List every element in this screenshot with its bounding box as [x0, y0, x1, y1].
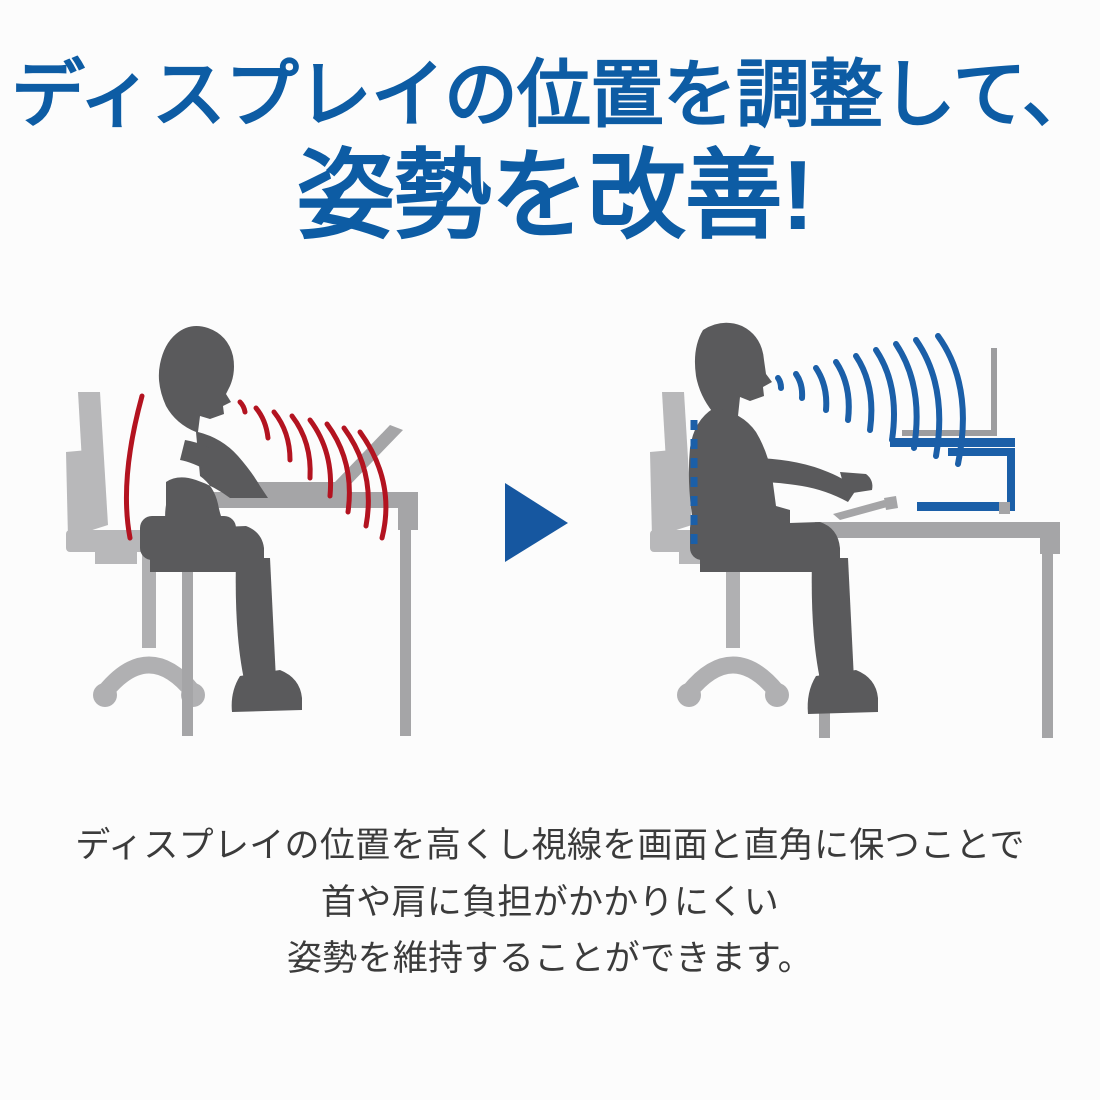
headline-line-1: ディスプレイの位置を調整して、: [0, 58, 1100, 132]
desk-top: [815, 522, 1060, 538]
bad-posture-panel: [66, 326, 418, 736]
illustration-stage: [0, 320, 1100, 800]
person-hip: [140, 516, 236, 560]
infographic-page: ディスプレイの位置を調整して、 姿勢を改善!: [0, 0, 1100, 1100]
page-title: ディスプレイの位置を調整して、 姿勢を改善!: [0, 58, 1100, 244]
mouse-icon: [884, 496, 898, 510]
chair-caster-left: [93, 683, 117, 707]
riser-vertical-post: [1007, 448, 1015, 510]
caption-block: ディスプレイの位置を高くし視線を画面と直角に保つことで 首や肩に負担がかかりにく…: [0, 818, 1100, 988]
spine-curve-line-red: [126, 396, 142, 538]
gaze-arcs-red: [240, 402, 386, 538]
riser-top-shelf: [890, 438, 1015, 447]
person-head: [695, 323, 772, 416]
person-silhouette-after: [689, 323, 878, 714]
person-foot: [232, 670, 302, 712]
chair-caster-right: [765, 683, 789, 707]
desk-leg-right: [1042, 538, 1053, 738]
chair-base-arc: [689, 665, 777, 692]
chair-base-arc: [105, 665, 193, 692]
peripherals-after: [833, 496, 898, 520]
gaze-arcs-blue: [778, 336, 963, 464]
person-foot: [808, 670, 878, 714]
caption-line-1: ディスプレイの位置を高くし視線を画面と直角に保つことで: [0, 818, 1100, 875]
caption-line-2: 首や肩に負担がかかりにくい: [0, 875, 1100, 932]
caption-line-3: 姿勢を維持することができます。: [0, 931, 1100, 988]
chair-caster-left: [677, 683, 701, 707]
person-lower-leg: [236, 558, 276, 688]
monitor-screen-edge: [991, 348, 997, 436]
riser-foot: [999, 502, 1010, 514]
chair-backrest-lower: [66, 450, 90, 538]
person-lower-leg: [812, 558, 854, 688]
person-silhouette-before: [140, 326, 302, 712]
chair-seat-underside: [95, 552, 137, 564]
chair-backrest-lower: [650, 450, 674, 538]
person-head-torso: [159, 326, 268, 546]
monitor-riser-blue: [890, 438, 1015, 514]
headline-line-2: 姿勢を改善!: [0, 146, 1100, 244]
keyboard-icon: [833, 500, 891, 520]
transition-arrow: [505, 483, 568, 562]
good-posture-panel: [650, 323, 1060, 738]
desk-leg-right: [400, 508, 411, 736]
